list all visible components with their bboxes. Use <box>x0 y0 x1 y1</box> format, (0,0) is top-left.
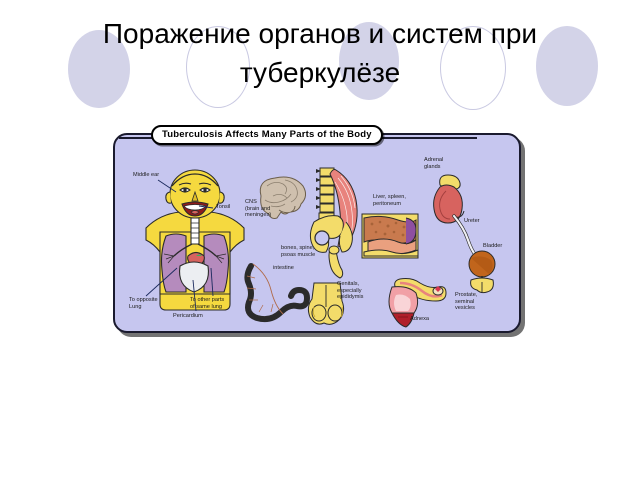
banner-stub-right <box>377 137 477 139</box>
figure-liver-spleen-peritoneum <box>360 212 422 260</box>
diagram-banner-title: Tuberculosis Affects Many Parts of the B… <box>151 125 383 145</box>
label-adrenal-glands: Adrenal glands <box>424 157 443 170</box>
label-bones-spine: bones, spine, psoas muscle <box>281 245 315 258</box>
label-adnexa: Adnexa <box>410 316 429 323</box>
label-bladder: Bladder <box>483 243 502 250</box>
page-title-line-1: Поражение органов и систем при <box>0 14 640 53</box>
label-pericardium: Pericardium <box>173 313 203 320</box>
figure-torso-lungs <box>136 170 254 310</box>
label-genitals: Genitals, especially epididymis <box>337 281 363 301</box>
label-middle-ear: Middle ear <box>133 172 159 179</box>
slide-root: Поражение органов и систем при туберкулё… <box>0 0 640 480</box>
label-cns: CNS (brain and meninges) <box>245 199 271 219</box>
label-liver-spleen: Liver, spleen, peritoneum <box>373 194 406 207</box>
figure-bladder-prostate <box>463 250 501 294</box>
figure-spine-pelvis-psoas <box>306 166 368 278</box>
label-intestine: intestine <box>273 265 294 272</box>
page-title-line-2: туберкулёзе <box>0 53 640 92</box>
page-title: Поражение органов и систем при туберкулё… <box>0 14 640 92</box>
label-tonsil: Tonsil <box>216 204 230 211</box>
banner-stub-left <box>119 137 155 139</box>
label-ureter: Ureter <box>464 218 480 225</box>
label-to-opposite-lung: To opposite Lung <box>129 297 158 310</box>
label-prostate: Prostate, seminal vesicles <box>455 292 477 312</box>
label-other-parts-lung: To other parts of same lung <box>190 297 224 310</box>
